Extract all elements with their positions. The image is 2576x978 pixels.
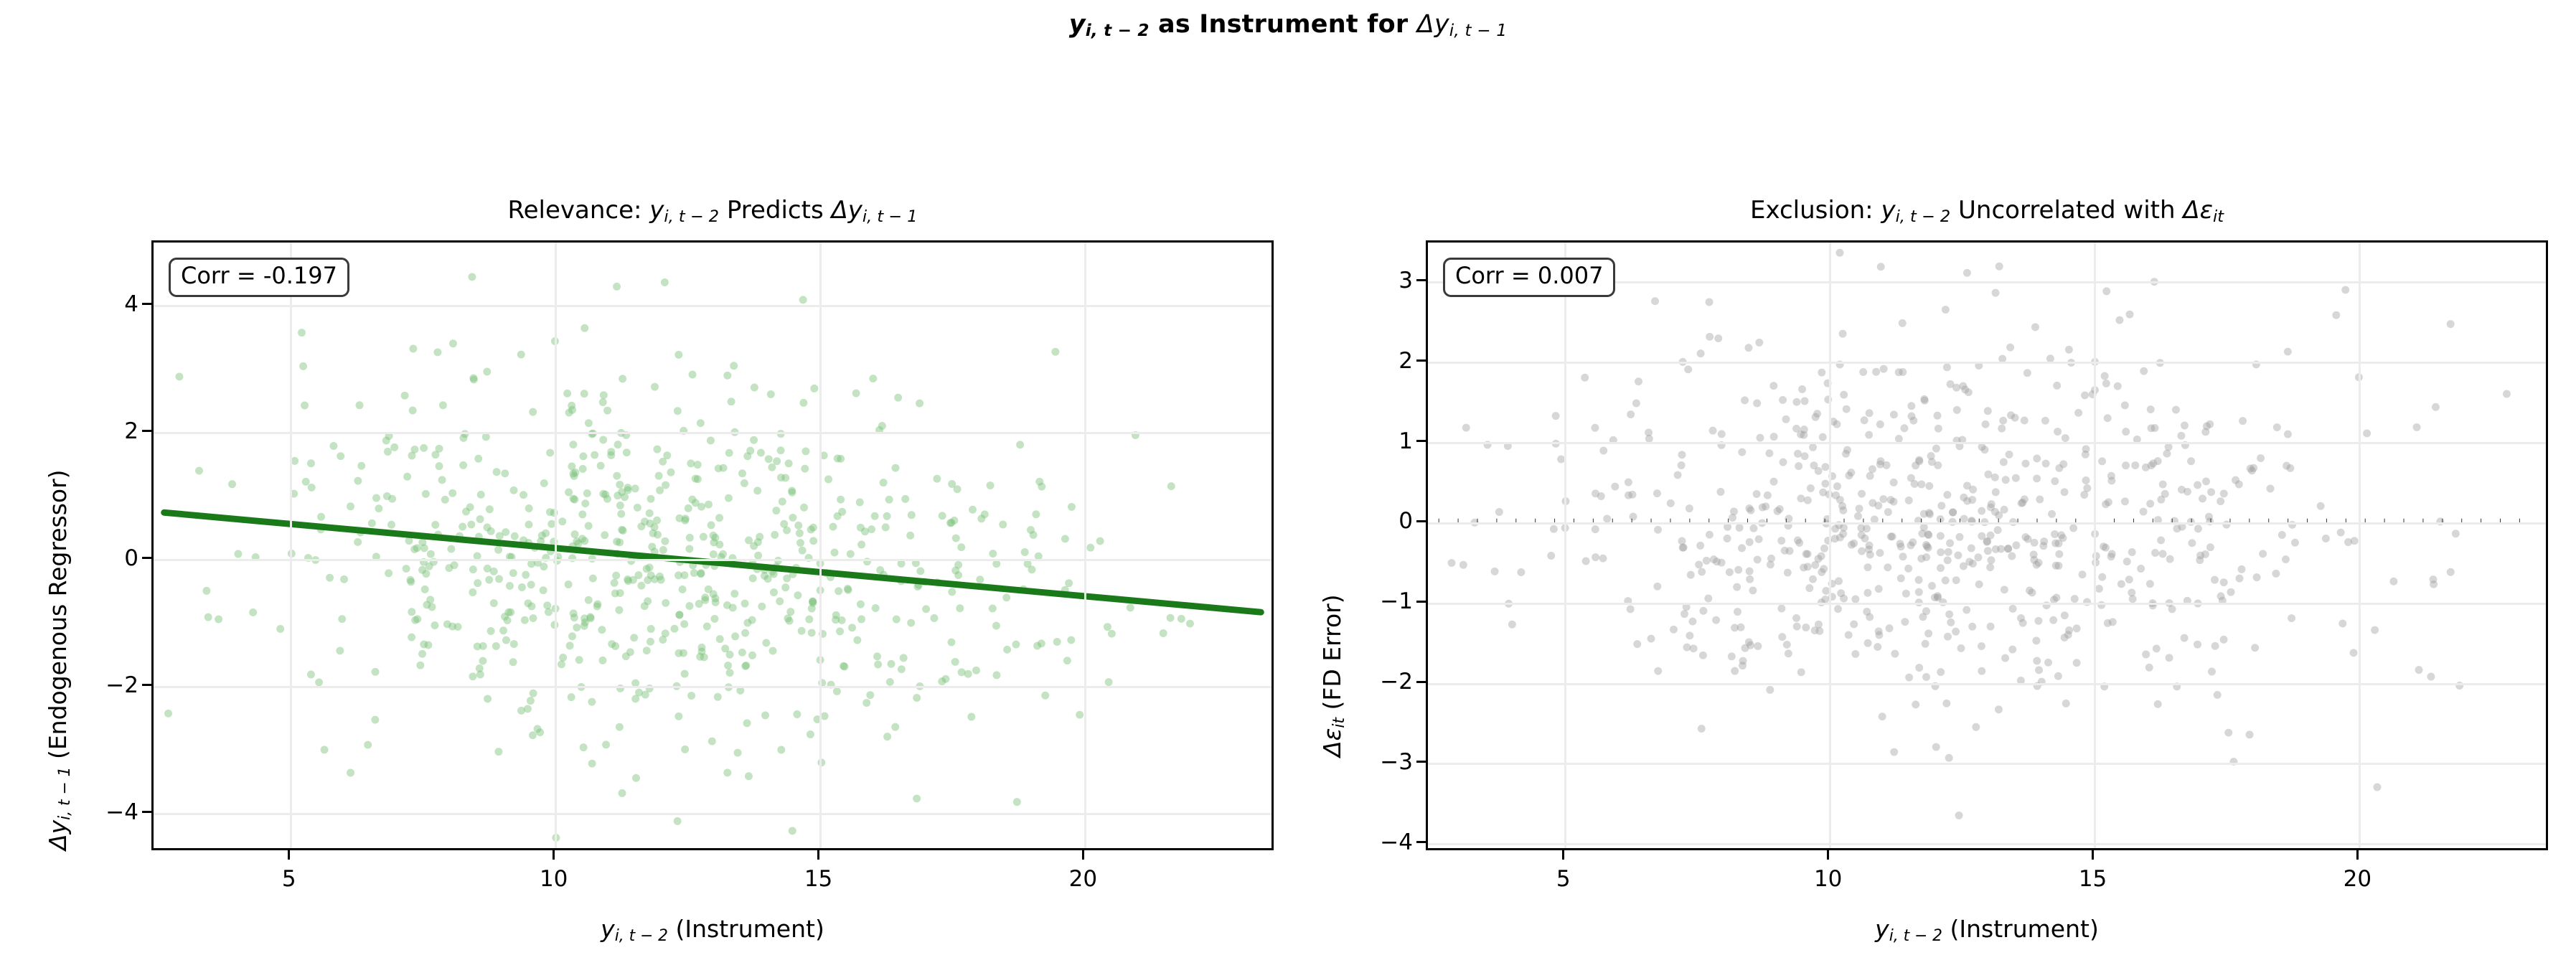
scatter-point	[857, 616, 865, 624]
title-var: y	[649, 196, 664, 225]
scatter-point	[617, 510, 625, 518]
scatter-point	[511, 532, 519, 540]
scatter-point	[1635, 377, 1642, 385]
scatter-point	[2042, 460, 2050, 468]
scatter-point	[2048, 510, 2056, 518]
scatter-point	[1809, 443, 1817, 451]
scatter-point	[1746, 575, 1754, 583]
scatter-point	[527, 603, 535, 611]
scatter-point	[1754, 555, 1762, 563]
scatter-point	[1960, 515, 1968, 523]
scatter-point	[1792, 398, 1800, 406]
gridline-vertical	[555, 243, 557, 848]
scatter-point	[776, 598, 784, 606]
scatter-point	[2074, 409, 2082, 417]
scatter-point	[1861, 535, 1868, 542]
scatter-point	[1690, 644, 1698, 652]
scatter-point	[989, 605, 997, 613]
scatter-point	[624, 484, 631, 492]
scatter-point	[1805, 584, 1813, 592]
scatter-point	[571, 530, 579, 538]
scatter-point	[1645, 428, 1653, 436]
scatter-point	[1581, 374, 1589, 382]
scatter-point	[1897, 575, 1905, 583]
scatter-point	[525, 504, 533, 512]
scatter-point	[730, 362, 738, 370]
scatter-point	[587, 614, 595, 622]
scatter-point	[866, 691, 874, 699]
xlabel-sub: i, t − 2	[1889, 927, 1942, 945]
axes-exclusion[interactable]	[1426, 240, 2548, 850]
yaxis-tick-mark	[1416, 520, 1426, 522]
scatter-point	[496, 532, 504, 540]
scatter-point	[573, 624, 580, 631]
scatter-point	[492, 642, 500, 650]
scatter-point	[1984, 407, 1992, 415]
scatter-point	[483, 368, 491, 376]
xaxis-tick-mark	[2092, 850, 2094, 860]
scatter-point	[2008, 646, 2016, 654]
scatter-point	[2033, 455, 2041, 463]
scatter-point	[808, 629, 816, 636]
scatter-point	[2033, 474, 2041, 482]
scatter-point	[767, 390, 775, 398]
scatter-point	[2055, 464, 2063, 472]
scatter-point	[540, 586, 547, 594]
title-sub: i, t − 2	[664, 207, 719, 226]
scatter-point	[1899, 319, 1907, 327]
scatter-point	[1937, 564, 1945, 572]
scatter-point	[809, 537, 817, 545]
scatter-point	[529, 731, 537, 739]
scatter-point	[1887, 532, 1895, 540]
scatter-point	[585, 596, 593, 604]
scatter-point	[1730, 507, 1738, 515]
scatter-point	[2031, 323, 2039, 331]
scatter-point	[315, 678, 323, 686]
scatter-point	[517, 351, 525, 359]
scatter-point	[2095, 585, 2103, 593]
scatter-point	[754, 552, 762, 560]
scatter-point	[568, 632, 576, 640]
scatter-point	[643, 646, 651, 654]
scatter-point	[768, 464, 776, 471]
scatter-point	[603, 407, 611, 415]
scatter-point	[809, 598, 817, 606]
scatter-point	[2102, 544, 2110, 552]
scatter-point	[202, 587, 210, 595]
scatter-point	[1876, 420, 1884, 428]
scatter-point	[1591, 424, 1599, 432]
scatter-point	[1991, 474, 1999, 481]
scatter-point	[680, 571, 688, 579]
scatter-point	[469, 374, 477, 382]
scatter-point	[1127, 603, 1134, 611]
scatter-point	[743, 719, 751, 727]
figure-suptitle: yi, t − 2 as Instrument for Δyi, t − 1	[0, 10, 2576, 40]
ylabel-rest: (Endogenous Regressor)	[44, 469, 72, 766]
scatter-point	[1491, 568, 1499, 575]
scatter-point	[574, 540, 582, 547]
scatter-point	[1851, 596, 1859, 603]
gridline-horizontal	[1428, 362, 2546, 364]
scatter-point	[908, 511, 916, 519]
scatter-point	[2009, 605, 2017, 613]
scatter-point	[1838, 502, 1846, 510]
scatter-point	[2081, 391, 2089, 399]
scatter-point	[1038, 639, 1045, 647]
scatter-point	[2337, 529, 2345, 537]
scatter-point	[906, 532, 914, 540]
scatter-point	[1918, 530, 1926, 537]
scatter-point	[1053, 638, 1061, 646]
scatter-point	[1777, 537, 1785, 545]
scatter-point	[700, 533, 708, 541]
scatter-point	[834, 512, 842, 520]
scatter-point	[205, 613, 212, 621]
scatter-point	[507, 608, 514, 616]
scatter-point	[1839, 330, 1847, 338]
scatter-point	[659, 458, 667, 466]
scatter-point	[1508, 621, 1516, 629]
scatter-point	[748, 652, 756, 659]
scatter-point	[1756, 434, 1764, 442]
scatter-point	[1706, 298, 1714, 306]
scatter-point	[1495, 508, 1503, 516]
gridline-vertical	[2359, 243, 2361, 848]
scatter-point	[1698, 568, 1706, 575]
scatter-point	[777, 746, 785, 754]
scatter-point	[876, 566, 884, 574]
scatter-point	[705, 501, 713, 509]
scatter-point	[1733, 583, 1741, 591]
scatter-point	[422, 570, 430, 578]
scatter-point	[1912, 700, 1919, 708]
scatter-point	[2259, 550, 2267, 558]
gridline-horizontal	[1428, 442, 2546, 444]
scatter-point	[598, 657, 606, 664]
scatter-point	[1736, 524, 1744, 532]
scatter-point	[1905, 497, 1913, 504]
scatter-point	[726, 669, 734, 677]
scatter-point	[2181, 634, 2189, 642]
scatter-point	[1448, 559, 1456, 567]
yaxis-tick-label: −2	[97, 672, 138, 698]
scatter-point	[413, 544, 421, 552]
scatter-point	[862, 699, 870, 707]
scatter-point	[649, 530, 657, 537]
scatter-point	[2032, 636, 2040, 644]
scatter-point	[1674, 471, 1682, 479]
scatter-point	[1028, 565, 1035, 573]
scatter-point	[2217, 592, 2225, 600]
scatter-point	[2146, 580, 2154, 588]
xaxis-tick-mark	[288, 850, 290, 860]
yaxis-tick-label: −4	[97, 799, 138, 825]
scatter-point	[2159, 550, 2167, 558]
scatter-point	[1820, 565, 1828, 573]
scatter-point	[725, 494, 733, 502]
scatter-point	[447, 545, 455, 553]
scatter-point	[1858, 490, 1866, 498]
scatter-point	[1778, 633, 1786, 641]
scatter-point	[847, 550, 855, 558]
scatter-point	[1868, 465, 1876, 473]
scatter-point	[857, 601, 865, 608]
scatter-point	[1755, 535, 1763, 543]
scatter-point	[681, 746, 689, 753]
scatter-point	[1695, 560, 1703, 568]
scatter-point	[697, 569, 705, 577]
scatter-point	[1945, 548, 1952, 556]
scatter-point	[2220, 489, 2228, 497]
scatter-point	[1813, 410, 1821, 418]
scatter-point	[2006, 451, 2013, 459]
scatter-point	[563, 390, 571, 398]
scatter-point	[705, 586, 713, 593]
scatter-point	[1850, 620, 1858, 628]
xaxis-tick-label: 20	[1069, 866, 1097, 892]
scatter-point	[1954, 551, 1962, 559]
scatter-point	[901, 495, 909, 503]
scatter-point	[597, 462, 605, 470]
scatter-point	[2054, 672, 2062, 680]
scatter-point	[621, 493, 629, 501]
scatter-point	[1858, 547, 1866, 555]
scatter-point	[2166, 654, 2173, 662]
scatter-point	[2105, 498, 2112, 506]
scatter-point	[1915, 588, 1923, 596]
scatter-point	[835, 587, 842, 595]
scatter-point	[981, 510, 989, 518]
scatter-point	[1804, 550, 1812, 558]
scatter-point	[215, 616, 222, 624]
scatter-point	[1937, 532, 1945, 540]
scatter-point	[433, 348, 441, 356]
scatter-point	[1687, 571, 1695, 579]
scatter-point	[742, 662, 750, 669]
scatter-point	[1863, 525, 1871, 532]
scatter-point	[1890, 748, 1898, 756]
scatter-point	[1734, 566, 1742, 574]
scatter-point	[375, 504, 382, 512]
scatter-point	[506, 582, 514, 590]
xaxis-tick-mark	[553, 850, 555, 860]
scatter-point	[730, 590, 738, 598]
xaxis-tick-mark	[1082, 850, 1084, 860]
suptitle-var-delta-y: Δy	[1417, 10, 1449, 39]
scatter-point	[422, 490, 430, 498]
scatter-point	[2012, 542, 2020, 550]
scatter-point	[809, 524, 817, 532]
scatter-point	[1651, 297, 1659, 305]
scatter-point	[1776, 505, 1784, 513]
scatter-point	[1831, 535, 1839, 542]
yaxis-tick-label: 2	[1371, 348, 1413, 374]
scatter-point	[1712, 616, 1720, 624]
scatter-point	[1904, 565, 1912, 573]
scatter-point	[495, 575, 503, 583]
scatter-point	[612, 572, 620, 580]
scatter-point	[2012, 474, 2020, 482]
yaxis-tick-label: 3	[1371, 268, 1413, 293]
scatter-point	[408, 634, 415, 641]
scatter-point	[1632, 400, 1640, 408]
scatter-point	[1856, 504, 1863, 512]
scatter-point	[2062, 434, 2069, 442]
xaxis-label-exclusion: yi, t − 2 (Instrument)	[1426, 915, 2548, 945]
scatter-point	[524, 705, 532, 713]
scatter-point	[913, 794, 921, 802]
scatter-point	[2000, 459, 2008, 466]
scatter-point	[2030, 550, 2038, 558]
scatter-point	[2004, 545, 2012, 553]
scatter-point	[2188, 539, 2196, 547]
scatter-point	[635, 689, 643, 697]
scatter-point	[540, 479, 548, 487]
scatter-point	[2098, 457, 2106, 465]
scatter-point	[2203, 423, 2211, 431]
title-middle: Uncorrelated with	[1950, 196, 2183, 225]
annotation-corr-relevance: Corr = -0.197	[169, 258, 349, 297]
scatter-point	[1934, 592, 1942, 600]
scatter-point	[538, 532, 546, 540]
scatter-point	[703, 623, 711, 631]
scatter-point	[2272, 570, 2280, 578]
scatter-point	[690, 569, 698, 577]
scatter-point	[613, 283, 621, 291]
scatter-point	[468, 273, 476, 281]
scatter-point	[454, 623, 462, 631]
scatter-point	[566, 641, 574, 649]
scatter-point	[347, 769, 354, 777]
scatter-point	[1850, 540, 1858, 547]
scatter-point	[2107, 476, 2115, 484]
scatter-point	[529, 408, 537, 416]
scatter-point	[1937, 668, 1945, 676]
scatter-point	[1847, 469, 1855, 476]
scatter-point	[1944, 633, 1952, 641]
scatter-point	[1952, 628, 1960, 636]
scatter-point	[1801, 398, 1809, 405]
scatter-point	[1731, 667, 1739, 675]
scatter-point	[1874, 643, 1881, 651]
scatter-point	[1061, 535, 1069, 542]
scatter-point	[2413, 423, 2421, 431]
scatter-point	[848, 624, 856, 631]
scatter-point	[957, 543, 965, 551]
scatter-point	[1792, 425, 1800, 433]
scatter-point	[520, 491, 527, 499]
scatter-point	[646, 509, 654, 517]
scatter-point	[952, 535, 960, 542]
scatter-point	[1810, 461, 1818, 469]
scatter-point	[1851, 650, 1859, 658]
scatter-point	[687, 459, 695, 467]
scatter-point	[2220, 636, 2228, 644]
scatter-point	[1920, 510, 1928, 518]
scatter-point	[1027, 526, 1035, 534]
scatter-point	[2117, 580, 2125, 588]
gridline-horizontal	[1428, 683, 2546, 685]
scatter-point	[883, 733, 891, 740]
scatter-point	[347, 502, 354, 510]
scatter-point	[969, 506, 977, 514]
scatter-point	[2154, 700, 2162, 708]
scatter-point	[527, 580, 535, 588]
scatter-point	[385, 569, 392, 577]
scatter-point	[1801, 452, 1809, 460]
scatter-point	[2257, 454, 2265, 462]
scatter-point	[372, 494, 380, 502]
scatter-point	[1996, 263, 2003, 271]
scatter-point	[807, 730, 814, 738]
scatter-point	[1653, 489, 1661, 497]
scatter-point	[580, 324, 588, 332]
scatter-point	[723, 768, 731, 776]
scatter-point	[1845, 631, 1853, 639]
yaxis-tick-mark	[142, 557, 151, 559]
scatter-point	[2147, 405, 2155, 413]
axes-relevance[interactable]	[151, 240, 1274, 850]
scatter-point	[711, 594, 719, 602]
scatter-point	[613, 472, 621, 480]
scatter-point	[1819, 489, 1827, 497]
scatter-point	[794, 591, 802, 599]
scatter-point	[1592, 489, 1599, 497]
scatter-point	[2053, 382, 2061, 390]
title-prefix: Relevance:	[508, 196, 650, 225]
xaxis-label-relevance: yi, t − 2 (Instrument)	[151, 915, 1274, 945]
scatter-point	[228, 480, 236, 488]
scatter-point	[1753, 399, 1761, 407]
scatter-point	[2115, 316, 2123, 324]
scatter-point	[2503, 390, 2511, 398]
scatter-point	[802, 447, 809, 455]
scatter-point	[1753, 490, 1761, 498]
scatter-point	[2001, 506, 2008, 514]
scatter-point	[646, 563, 654, 571]
scatter-point	[2177, 432, 2185, 440]
scatter-point	[2040, 537, 2048, 545]
scatter-point	[302, 478, 310, 486]
scatter-point	[1795, 462, 1802, 470]
scatter-point	[758, 603, 766, 611]
scatter-point	[525, 521, 532, 529]
scatter-point	[2184, 488, 2191, 496]
scatter-point	[2065, 626, 2073, 634]
scatter-point	[1955, 812, 1963, 819]
scatter-point	[781, 583, 789, 591]
yaxis-tick-label: 1	[1371, 428, 1413, 454]
scatter-point	[894, 394, 902, 402]
ylabel-var: Δy	[44, 820, 72, 850]
scatter-point	[798, 627, 806, 635]
scatter-point	[1686, 504, 1693, 512]
scatter-point	[836, 627, 844, 635]
scatter-point	[1962, 606, 1970, 614]
scatter-point	[2109, 618, 2117, 626]
scatter-point	[653, 446, 661, 453]
scatter-point	[607, 451, 615, 459]
scatter-point	[2035, 666, 2043, 674]
scatter-point	[710, 615, 718, 623]
scatter-point	[1013, 798, 1021, 806]
scatter-point	[753, 486, 761, 494]
yaxis-label-relevance: Δyi, t − 1 (Endogenous Regressor)	[44, 469, 74, 850]
scatter-point	[1886, 624, 1894, 632]
scatter-point	[1800, 431, 1808, 439]
